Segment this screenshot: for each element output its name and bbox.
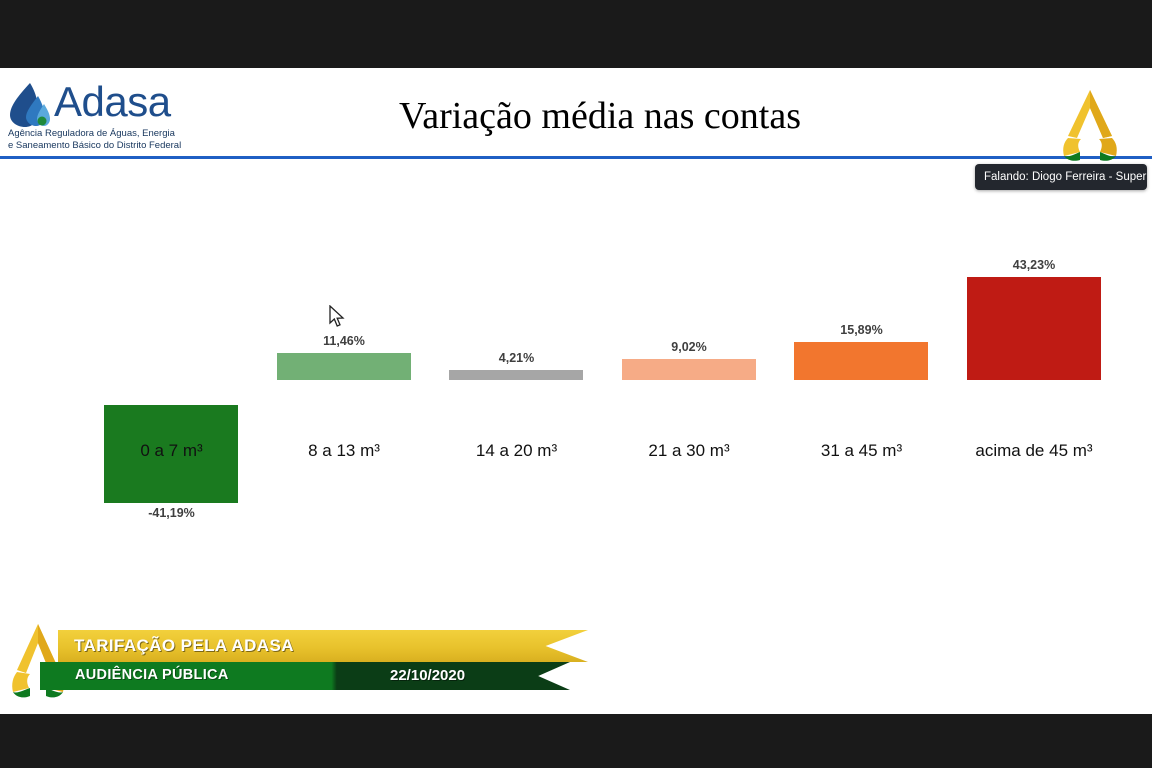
bar[interactable] — [622, 359, 756, 380]
bar-plot-area: 9,02% — [602, 156, 777, 406]
bar-plot-area: 11,46% — [257, 156, 432, 406]
bar-plot-area: 15,89% — [774, 156, 949, 406]
bar-group[interactable]: 9,02%21 a 30 m³ — [602, 156, 777, 576]
logo-subtitle: Agência Reguladora de Águas, Energia e S… — [8, 128, 288, 151]
category-label: 21 a 30 m³ — [592, 441, 787, 461]
bar-plot-area: -41,19% — [84, 156, 259, 406]
letterbox-bottom — [0, 714, 1152, 768]
bar-value-label: 43,23% — [947, 258, 1122, 272]
adasa-arrow-emblem-icon — [1050, 86, 1130, 166]
bar[interactable] — [277, 353, 411, 380]
logo-subtitle-line-1: Agência Reguladora de Águas, Energia — [8, 128, 288, 140]
ribbon-title-text: TARIFAÇÃO PELA ADASA — [74, 636, 294, 656]
presentation-viewport: Adasa Agência Reguladora de Águas, Energ… — [0, 0, 1152, 768]
category-label: acima de 45 m³ — [937, 441, 1132, 461]
bar-group[interactable]: 4,21%14 a 20 m³ — [429, 156, 604, 576]
slide-canvas: Adasa Agência Reguladora de Águas, Energ… — [0, 68, 1152, 714]
ribbon-title-bar: TARIFAÇÃO PELA ADASA — [58, 630, 588, 662]
bar-group[interactable]: 15,89%31 a 45 m³ — [774, 156, 949, 576]
logo-wordmark: Adasa — [54, 78, 171, 126]
ribbon-date-text: 22/10/2020 — [390, 667, 465, 684]
ribbon-subtitle-bar: AUDIÊNCIA PÚBLICA 22/10/2020 — [40, 662, 570, 690]
bar-value-label: 15,89% — [774, 323, 949, 337]
logo-subtitle-line-2: e Saneamento Básico do Distrito Federal — [8, 140, 288, 152]
footer-banner: TARIFAÇÃO PELA ADASA AUDIÊNCIA PÚBLICA 2… — [0, 620, 660, 714]
bar-value-label: 4,21% — [429, 351, 604, 365]
adasa-logo: Adasa Agência Reguladora de Águas, Energ… — [6, 76, 296, 152]
bar-plot-area: 4,21% — [429, 156, 604, 406]
bar-value-label: -41,19% — [84, 506, 259, 520]
bar-group[interactable]: 43,23%acima de 45 m³ — [947, 156, 1122, 576]
bar-value-label: 11,46% — [257, 334, 432, 348]
bar-group[interactable]: -41,19%0 a 7 m³ — [84, 156, 259, 576]
bar[interactable] — [449, 370, 583, 380]
letterbox-top — [0, 0, 1152, 68]
category-label: 14 a 20 m³ — [419, 441, 614, 461]
bar-group[interactable]: 11,46%8 a 13 m³ — [257, 156, 432, 576]
page-title: Variação média nas contas — [300, 94, 900, 138]
ribbon-subtitle-text: AUDIÊNCIA PÚBLICA — [75, 667, 229, 683]
bar-chart: -41,19%0 a 7 m³11,46%8 a 13 m³4,21%14 a … — [0, 156, 1152, 576]
bar-value-label: 9,02% — [602, 340, 777, 354]
category-label: 0 a 7 m³ — [74, 441, 269, 461]
category-label: 31 a 45 m³ — [764, 441, 959, 461]
bar[interactable] — [794, 342, 928, 380]
category-label: 8 a 13 m³ — [247, 441, 442, 461]
bar[interactable] — [967, 277, 1101, 380]
bar-plot-area: 43,23% — [947, 156, 1122, 406]
water-drop-icon — [8, 82, 52, 128]
